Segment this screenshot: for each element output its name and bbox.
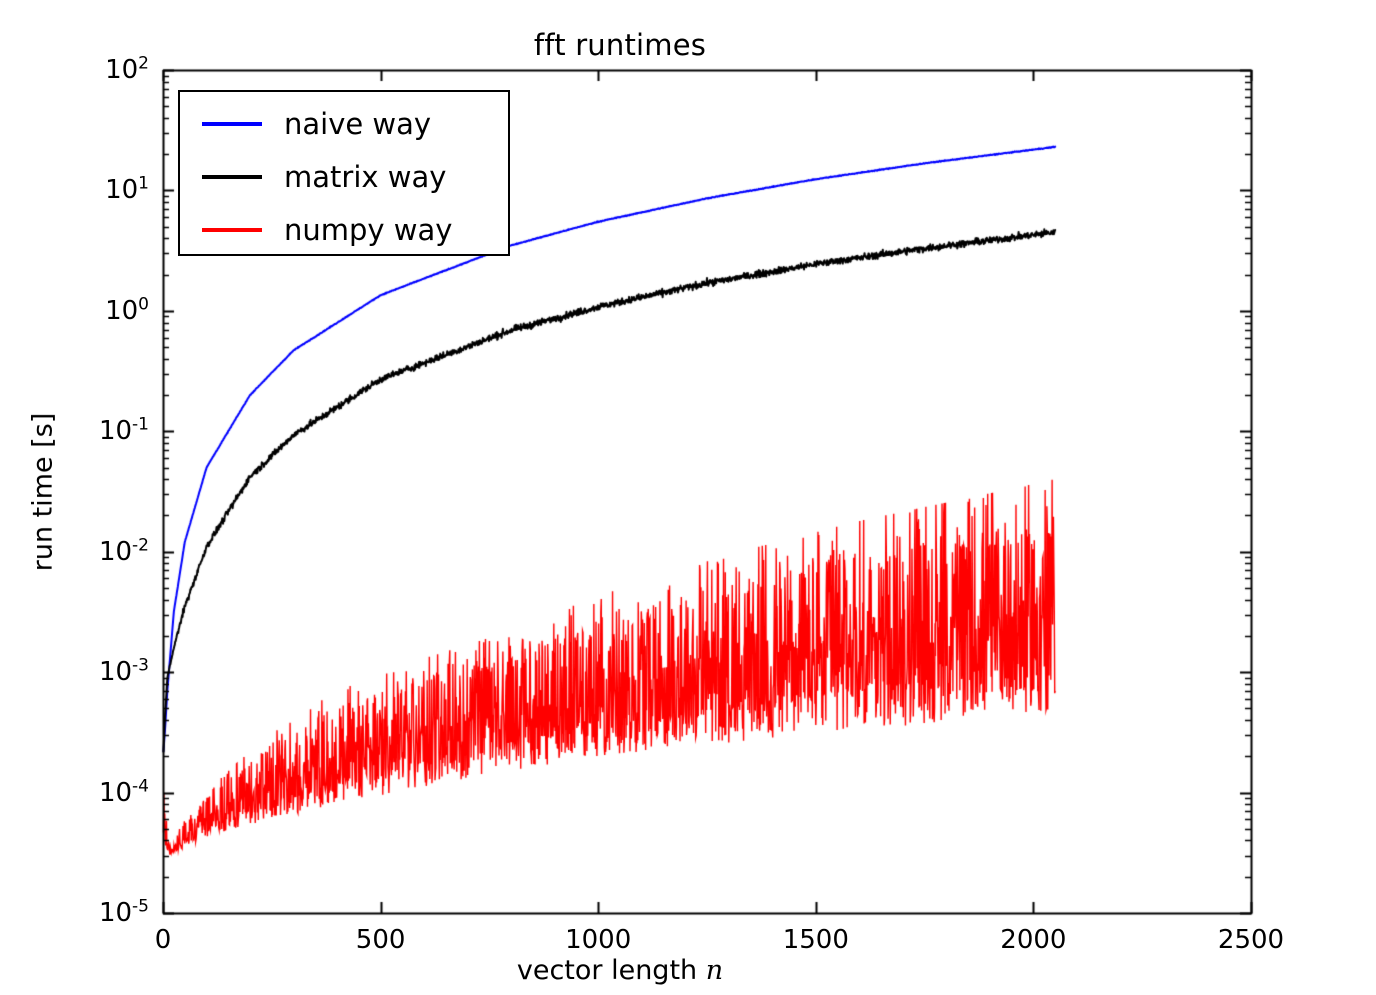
chart-legend[interactable]: naive waymatrix waynumpy way <box>178 90 510 256</box>
x-tick-label: 0 <box>155 925 172 955</box>
legend-entry-label: numpy way <box>284 213 452 247</box>
legend-entry-label: matrix way <box>284 160 446 194</box>
y-tick-label: 10-2 <box>0 537 149 567</box>
x-axis-label-inner: vector length n <box>517 955 723 986</box>
x-tick-label: 2000 <box>1000 925 1066 955</box>
chart-title-text: fft runtimes <box>534 28 706 62</box>
y-tick-label: 10-5 <box>0 898 149 928</box>
y-tick-label: 100 <box>0 296 149 326</box>
chart-title: fft runtimes <box>0 28 1376 62</box>
legend-color-swatch <box>202 228 262 232</box>
legend-entry[interactable]: numpy way <box>180 202 508 257</box>
x-tick-label: 1000 <box>565 925 631 955</box>
legend-color-swatch <box>202 175 262 179</box>
x-axis-label: vector length n <box>0 955 1376 986</box>
legend-color-swatch <box>202 122 262 126</box>
x-tick-label: 2500 <box>1218 925 1284 955</box>
legend-entry[interactable]: naive way <box>180 96 508 151</box>
legend-entry-label: naive way <box>284 107 431 141</box>
legend-entry[interactable]: matrix way <box>180 149 508 204</box>
figure-canvas: fft runtimes run time [s] vector length … <box>0 0 1376 995</box>
y-tick-label: 10-3 <box>0 657 149 687</box>
y-tick-label: 101 <box>0 175 149 205</box>
x-axis-label-text: vector length <box>517 955 706 986</box>
x-axis-label-math-n: n <box>706 955 723 986</box>
y-tick-label: 10-1 <box>0 416 149 446</box>
x-tick-label: 1500 <box>783 925 849 955</box>
y-tick-label: 102 <box>0 55 149 85</box>
x-tick-label: 500 <box>356 925 406 955</box>
y-tick-label: 10-4 <box>0 778 149 808</box>
